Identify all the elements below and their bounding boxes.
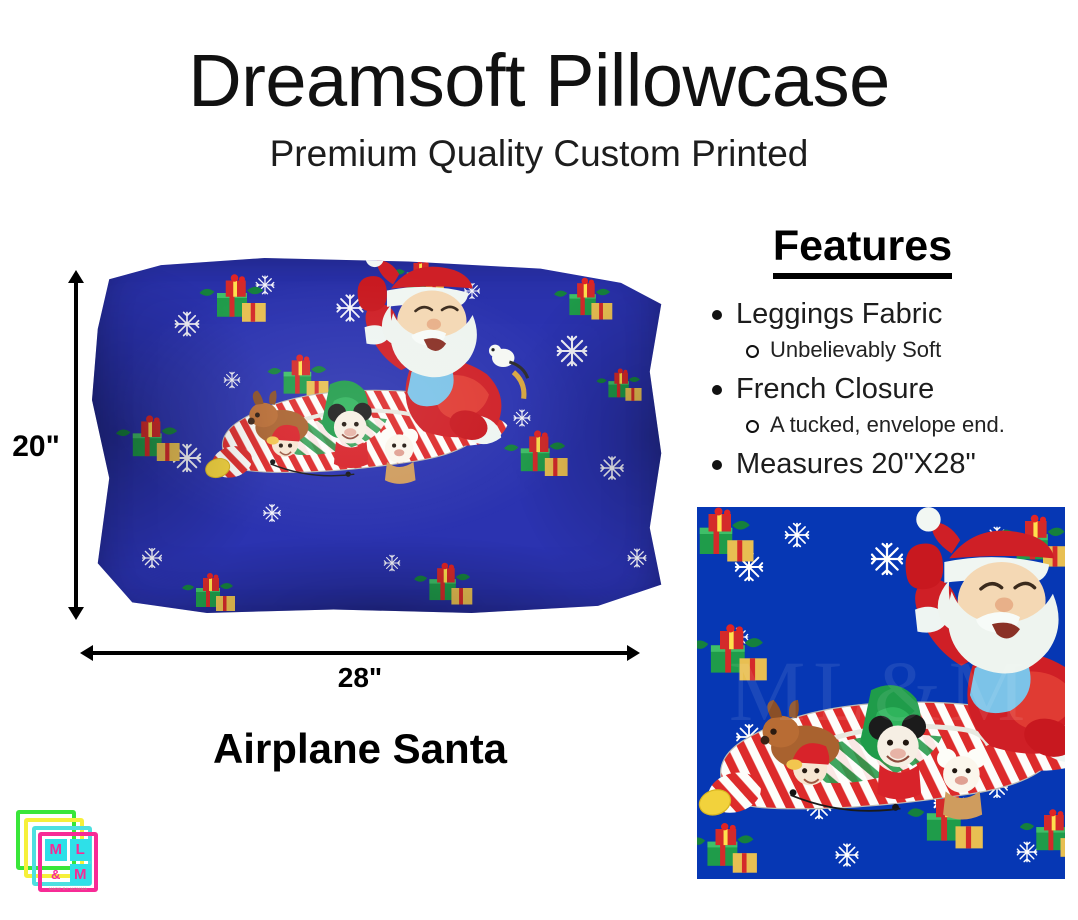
arrow-shaft-horizontal bbox=[89, 651, 631, 655]
height-dimension-arrow bbox=[68, 270, 84, 620]
logo-tagline: MADE BY MOMMA bbox=[42, 886, 94, 891]
logo-letter-grid: M L & M bbox=[45, 839, 91, 885]
logo-letter-l: L bbox=[70, 839, 92, 861]
product-marketing-image: Dreamsoft Pillowcase Premium Quality Cus… bbox=[0, 0, 1078, 920]
features-heading: Features bbox=[690, 222, 1035, 271]
page-title: Dreamsoft Pillowcase bbox=[0, 44, 1078, 118]
height-label: 20" bbox=[8, 430, 64, 464]
arrow-shaft-vertical bbox=[74, 278, 78, 612]
pillow-product-image bbox=[92, 258, 667, 613]
features-list: Leggings Fabric Unbelievably Soft French… bbox=[700, 296, 1078, 486]
logo-letter-amp: & bbox=[45, 864, 67, 886]
logo-letter-m1: M bbox=[45, 839, 67, 861]
swatch-fabric-art bbox=[697, 507, 1065, 879]
feature-subitem: A tucked, envelope end. bbox=[700, 411, 1078, 439]
brand-logo: M L & M MADE BY MOMMA bbox=[14, 808, 102, 896]
feature-subitem: Unbelievably Soft bbox=[700, 336, 1078, 364]
pillow-fabric-art bbox=[92, 258, 667, 613]
fabric-swatch-image: ML&M bbox=[697, 507, 1065, 879]
feature-item: Measures 20"X28" bbox=[700, 446, 1078, 482]
product-name: Airplane Santa bbox=[80, 725, 640, 773]
features-heading-text: Features bbox=[773, 222, 952, 279]
feature-item: French Closure bbox=[700, 371, 1078, 407]
arrow-head-right bbox=[627, 645, 640, 661]
logo-letter-m2: M bbox=[70, 864, 92, 886]
feature-item: Leggings Fabric bbox=[700, 296, 1078, 332]
page-subtitle: Premium Quality Custom Printed bbox=[0, 134, 1078, 175]
width-label: 28" bbox=[80, 662, 640, 694]
arrow-head-down bbox=[68, 607, 84, 620]
width-dimension-arrow bbox=[80, 645, 640, 661]
